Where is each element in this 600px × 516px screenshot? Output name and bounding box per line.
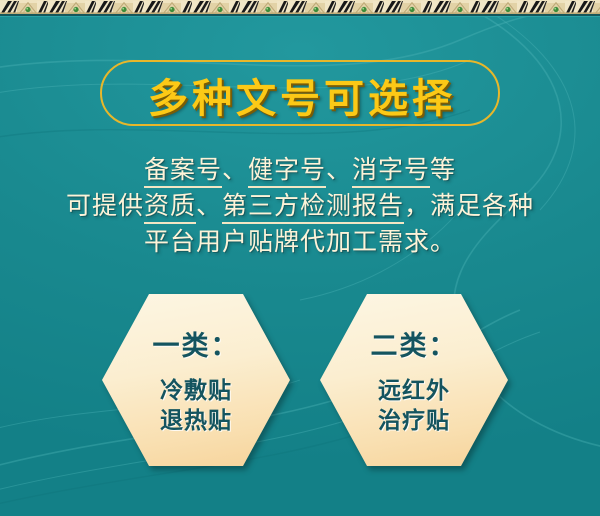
highlighted-term: 健字号 [248, 155, 326, 188]
top-decorative-border [0, 0, 600, 17]
category-card-one: 一类： 冷敷贴 退热贴 [102, 294, 290, 466]
title-frame: 多种文号可选择 [100, 60, 500, 126]
category-items: 远红外 治疗贴 [378, 376, 450, 436]
description-text: ，满足各种 [404, 191, 534, 220]
description-line: 平台用户贴牌代加工需求。 [0, 224, 600, 260]
description-text: 平台用户贴牌代加工需求。 [144, 227, 456, 256]
highlighted-term: 第三方检测报告 [222, 191, 404, 224]
description-line: 可提供资质、第三方检测报告，满足各种 [0, 188, 600, 224]
category-item: 远红外 [378, 376, 450, 406]
highlighted-term: 资质 [144, 191, 196, 224]
description-paragraph: 备案号、健字号、消字号等可提供资质、第三方检测报告，满足各种平台用户贴牌代加工需… [0, 152, 600, 260]
promo-poster: 多种文号可选择 备案号、健字号、消字号等可提供资质、第三方检测报告，满足各种平台… [0, 0, 600, 516]
description-text: 、 [196, 191, 222, 220]
category-item: 退热贴 [160, 406, 232, 436]
border-pattern [0, 0, 600, 17]
description-text: 可提供 [66, 191, 144, 220]
category-card-content: 二类： 远红外 治疗贴 [320, 294, 508, 466]
highlighted-term: 消字号 [352, 155, 430, 188]
category-item: 冷敷贴 [160, 376, 232, 406]
description-line: 备案号、健字号、消字号等 [0, 152, 600, 188]
category-heading: 一类： [153, 324, 240, 363]
category-items: 冷敷贴 退热贴 [160, 376, 232, 436]
category-card-content: 一类： 冷敷贴 退热贴 [102, 294, 290, 466]
category-heading: 二类： [371, 324, 458, 363]
highlighted-term: 备案号 [144, 155, 222, 188]
category-item: 治疗贴 [378, 406, 450, 436]
page-title: 多种文号可选择 [102, 62, 502, 128]
description-text: 等 [430, 155, 456, 184]
description-text: 、 [326, 155, 352, 184]
category-card-two: 二类： 远红外 治疗贴 [320, 294, 508, 466]
description-text: 、 [222, 155, 248, 184]
